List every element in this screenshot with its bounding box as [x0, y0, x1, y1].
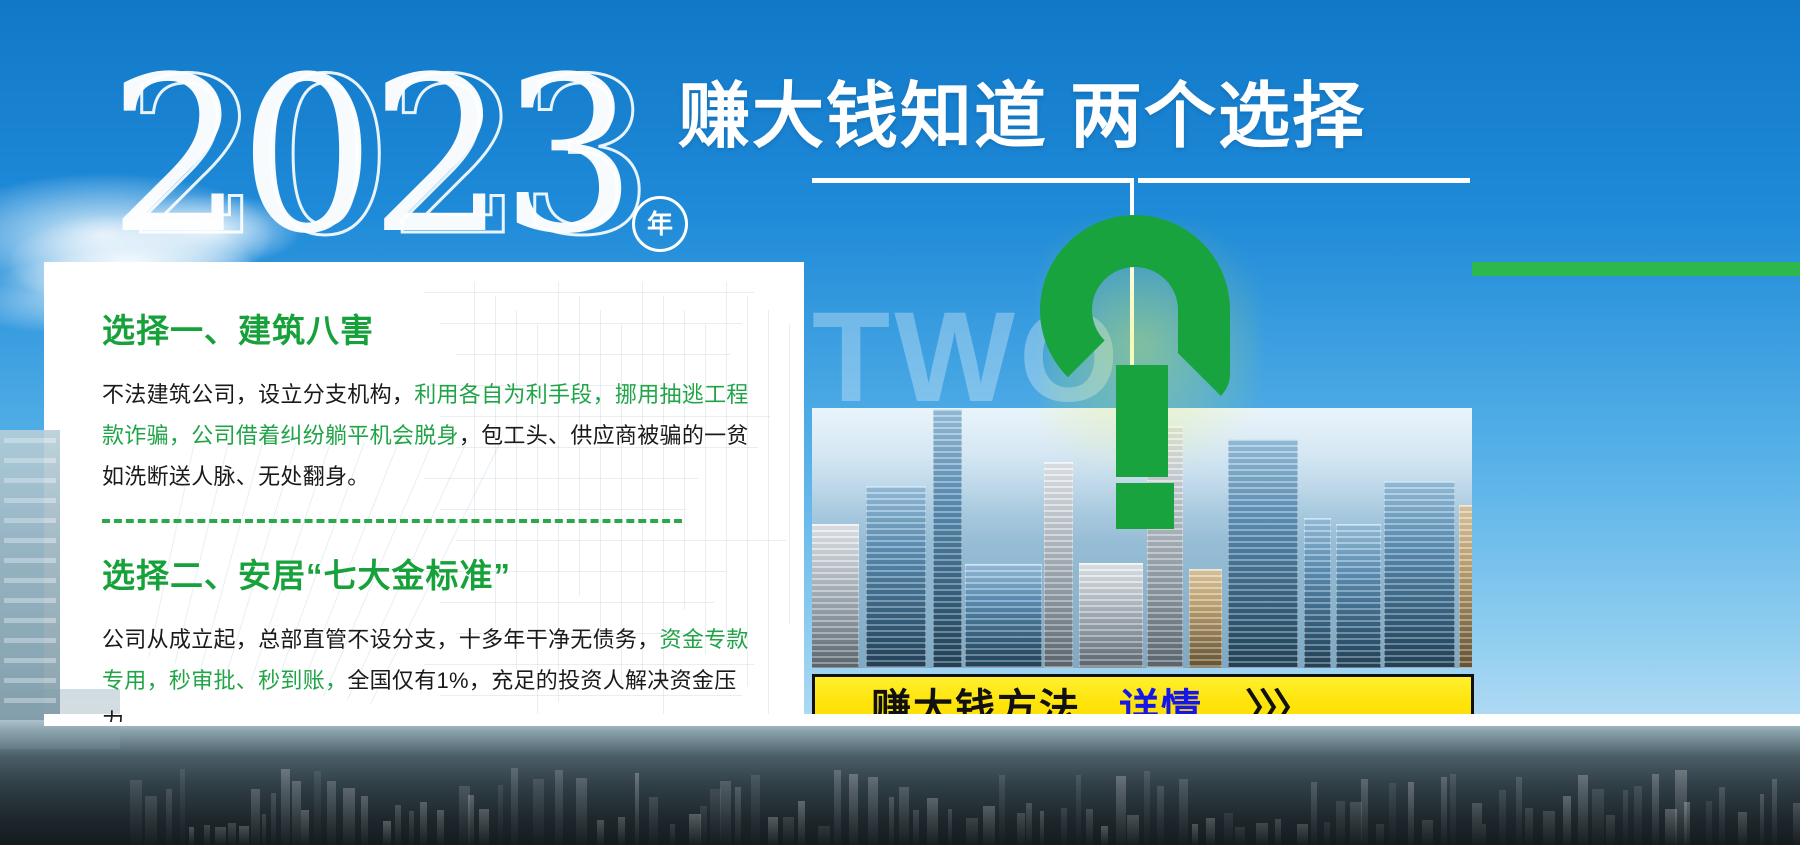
building-silhouette: [1079, 563, 1143, 668]
bottom-city-strip: [0, 715, 1800, 845]
reflection-streak: [1408, 782, 1414, 845]
section-divider: [102, 519, 682, 523]
reflection-streak: [1040, 811, 1044, 845]
reflection-streak: [215, 827, 226, 845]
reflection-streak: [1311, 782, 1317, 845]
reflection-streak: [783, 817, 794, 845]
cloud-decoration: [120, 195, 300, 265]
reflection-streak: [1275, 819, 1281, 845]
reflection-streak: [1563, 796, 1571, 845]
reflection-streak: [649, 797, 658, 845]
reflection-streak: [983, 806, 995, 845]
reflection-streak: [1144, 771, 1150, 845]
reflection-streak: [361, 796, 368, 845]
reflection-streak: [130, 780, 142, 845]
reflection-streak: [239, 826, 249, 845]
building-silhouette: [1147, 426, 1183, 668]
reflection-streak: [1719, 787, 1725, 845]
reflection-streak: [166, 789, 172, 845]
building-silhouette: [1384, 481, 1455, 668]
headline-rule-right: [1138, 178, 1470, 183]
reflection-streak: [1793, 803, 1800, 845]
reflection-streak: [576, 778, 587, 845]
reflection-streak: [670, 824, 675, 845]
reflection-streak: [1116, 776, 1126, 845]
reflection-streak: [768, 817, 778, 845]
reflection-streak: [1026, 803, 1032, 845]
building-silhouette: [1044, 462, 1073, 668]
reflection-streak: [720, 781, 731, 845]
reflection-streak: [966, 818, 978, 845]
reflection-streak: [383, 821, 391, 845]
reflection-streak: [1441, 777, 1447, 845]
reflection-streak: [618, 817, 625, 845]
year-suffix-badge: 年: [632, 196, 688, 252]
reflection-streak: [1578, 775, 1588, 845]
reflection-streak: [1086, 809, 1093, 845]
reflection-streak: [343, 788, 355, 845]
building-silhouette: [812, 524, 859, 668]
building-silhouette: [1228, 439, 1298, 668]
reflection-streak: [1376, 824, 1384, 845]
reflection-streak: [1336, 801, 1345, 845]
reflection-streak: [533, 779, 544, 845]
content-card: 选择一、建筑八害 不法建筑公司，设立分支机构，利用各自为利手段，挪用抽逃工程款诈…: [44, 262, 804, 722]
section-two-title: 选择二、安居“七大金标准”: [102, 549, 766, 597]
reflection-streak: [251, 789, 260, 845]
reflection-streak: [735, 787, 741, 845]
reflection-streak: [1634, 786, 1642, 845]
reflection-streak: [437, 810, 444, 845]
building-silhouette: [1304, 518, 1331, 668]
reflection-streak: [1076, 775, 1081, 845]
promo-poster: 2023 2023 年 赚大钱知道 两个选择 TWO CHOICES 赚大钱方法…: [0, 0, 1800, 845]
reflection-streak: [1422, 820, 1433, 845]
reflection-streak: [189, 827, 194, 845]
right-accent-bar: [1472, 262, 1800, 276]
reflection-streak: [555, 770, 563, 845]
reflection-streak: [1324, 822, 1330, 845]
section-one-body: 不法建筑公司，设立分支机构，利用各自为利手段，挪用抽逃工程款诈骗，公司借着纠纷躺…: [102, 374, 766, 497]
reflection-streak: [635, 773, 639, 845]
reflection-streak: [1127, 815, 1139, 845]
reflection-streak: [292, 781, 301, 845]
reflection-streak: [1192, 824, 1198, 845]
reflection-streak: [145, 796, 157, 845]
reflection-streak: [1297, 824, 1308, 845]
reflection-streak: [314, 771, 321, 845]
reflection-streak: [1206, 818, 1215, 845]
reflection-streak: [948, 809, 952, 845]
reflection-streak: [1389, 783, 1396, 845]
reflection-streak: [1623, 790, 1628, 845]
reflection-streak: [395, 805, 401, 845]
reflection-streak: [1361, 779, 1368, 845]
reflection-streak: [1482, 824, 1486, 845]
reflection-streak: [1684, 802, 1690, 845]
reflection-streak: [498, 785, 503, 845]
reflection-streak: [849, 774, 858, 845]
reflection-streak: [1760, 794, 1764, 845]
reflection-streak: [889, 797, 894, 845]
reflection-streak: [1516, 777, 1522, 845]
reflection-streak: [180, 769, 185, 845]
reflection-streak: [409, 811, 414, 845]
reflection-streak: [1772, 779, 1777, 845]
reflection-streak: [818, 826, 830, 845]
building-silhouette: [1336, 524, 1381, 668]
building-silhouette: [965, 564, 1042, 668]
section-one-part-1: 不法建筑公司，设立分支机构，: [102, 382, 414, 407]
reflection-streak: [700, 806, 707, 845]
year-text: 2023: [108, 30, 631, 281]
page-title: 赚大钱知道 两个选择: [678, 78, 1366, 156]
reflection-streak: [597, 820, 604, 845]
reflection-streak: [1543, 811, 1555, 845]
reflection-streak: [479, 809, 489, 845]
building-silhouette: [866, 486, 926, 668]
reflection-streak: [1179, 779, 1188, 845]
reflection-streak: [228, 823, 236, 845]
headline-rule-left: [812, 178, 1130, 183]
reflection-streak: [281, 769, 290, 845]
city-photo: [812, 408, 1472, 668]
reflection-streak: [999, 775, 1005, 845]
reflection-streak: [1738, 812, 1747, 845]
reflection-streak: [1101, 826, 1108, 845]
reflection-streak: [1606, 815, 1615, 845]
watermark-two: TWO: [812, 298, 1123, 418]
reflection-streak: [1256, 823, 1268, 845]
year-display: 2023 2023: [108, 56, 728, 271]
reflection-streak: [1706, 801, 1712, 845]
reflection-streak: [1450, 774, 1456, 845]
reflection-streak: [1235, 827, 1245, 845]
reflection-streak: [511, 768, 518, 845]
reflection-streak: [468, 795, 474, 845]
reflection-streak: [1017, 813, 1025, 845]
reflection-streak: [1157, 786, 1164, 845]
reflection-streak: [868, 777, 878, 845]
reflection-streak: [1061, 808, 1067, 845]
reflection-streak: [271, 793, 276, 845]
reflection-streak: [1472, 803, 1482, 845]
section-two-body: 公司从成立起，总部直管不设分支，十多年干净无债务，资金专款专用，秒审批、秒到账，…: [102, 619, 766, 722]
section-one-title: 选择一、建筑八害: [102, 304, 766, 352]
reflection-streak: [927, 798, 938, 845]
reflection-streak: [834, 770, 841, 845]
building-silhouette: [1459, 505, 1472, 668]
reflection-streak: [1499, 790, 1506, 845]
building-silhouette: [933, 409, 962, 668]
building-silhouette: [1189, 569, 1222, 668]
reflection-streak: [913, 810, 919, 845]
section-two-part-1: 公司从成立起，总部直管不设分支，十多年干净无债务，: [102, 627, 660, 652]
reflection-streak: [262, 814, 266, 845]
reflection-streak: [751, 775, 760, 845]
reflection-streak: [1525, 808, 1533, 845]
question-mark-hook: [1040, 215, 1230, 405]
reflection-streak: [798, 801, 805, 845]
reflection-streak: [301, 810, 309, 845]
reflection-streak: [899, 787, 909, 845]
reflection-streak: [327, 781, 336, 845]
reflection-streak: [420, 802, 427, 845]
reflection-streak: [1652, 774, 1659, 845]
reflection-streak: [1592, 789, 1604, 845]
reflection-streak: [204, 825, 210, 845]
year-outline-text: 2023: [126, 58, 649, 258]
reflection-streak: [1224, 813, 1233, 845]
